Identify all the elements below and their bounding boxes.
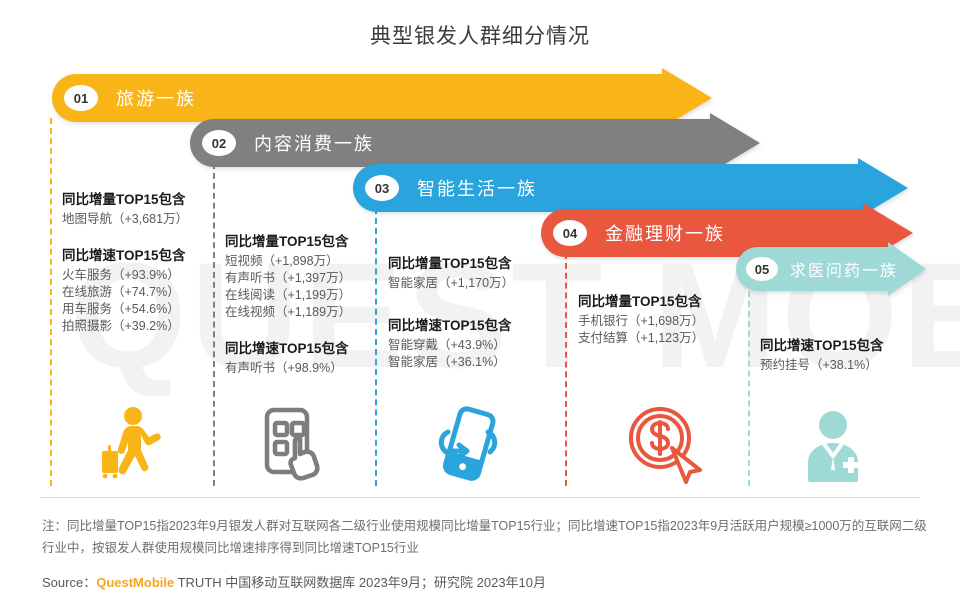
footer-divider [40, 497, 920, 498]
segment-label: 旅游一族 [116, 85, 196, 111]
text-block: 同比增量TOP15包含 智能家居（+1,170万） [388, 252, 514, 292]
infographic-root: QUEST MOBILE 典型银发人群细分情况 01 旅游一族 02 内容消费一… [0, 0, 960, 612]
divider-finance [565, 253, 567, 486]
segment-arrow-medical[interactable]: 05 求医问药一族 [736, 247, 926, 291]
block-item: 在线视频（+1,189万） [225, 304, 351, 321]
block-item: 有声听书（+98.9%） [225, 360, 351, 377]
block-item: 有声听书（+1,397万） [225, 270, 351, 287]
segment-number-badge: 01 [64, 85, 98, 111]
segment-label: 智能生活一族 [417, 175, 537, 201]
text-block: 同比增速TOP15包含 智能穿戴（+43.9%） 智能家居（+36.1%） [388, 314, 514, 371]
block-heading: 同比增速TOP15包含 [388, 314, 514, 334]
divider-smart [375, 208, 377, 486]
segment-arrow-travel[interactable]: 01 旅游一族 [52, 74, 712, 122]
block-item: 用车服务（+54.6%） [62, 301, 188, 318]
segment-label: 金融理财一族 [605, 220, 725, 246]
segment-number-badge: 05 [746, 257, 778, 281]
segment-number-badge: 02 [202, 130, 236, 156]
divider-medical [748, 291, 750, 486]
segment-number-badge: 04 [553, 220, 587, 246]
column-medical: 同比增速TOP15包含 预约挂号（+38.1%） [760, 334, 884, 374]
doctor-icon [800, 410, 866, 487]
segment-label: 内容消费一族 [254, 130, 374, 156]
block-item: 智能家居（+1,170万） [388, 275, 514, 292]
block-heading: 同比增量TOP15包含 [388, 252, 514, 272]
block-item: 短视频（+1,898万） [225, 253, 351, 270]
source-prefix: Source： [42, 575, 96, 590]
divider-content [213, 163, 215, 486]
block-item: 拍照摄影（+39.2%） [62, 318, 188, 335]
block-item: 支付结算（+1,123万） [578, 330, 704, 347]
segment-number-badge: 03 [365, 175, 399, 201]
smartphone-icon [430, 404, 504, 489]
text-block: 同比增量TOP15包含 地图导航（+3,681万） [62, 188, 188, 228]
source-rest: TRUTH 中国移动互联网数据库 2023年9月；研究院 2023年10月 [174, 575, 546, 590]
block-heading: 同比增速TOP15包含 [225, 337, 351, 357]
source-brand: QuestMobile [96, 575, 174, 590]
segment-arrow-smart[interactable]: 03 智能生活一族 [353, 164, 908, 212]
block-item: 智能穿戴（+43.9%） [388, 337, 514, 354]
column-travel: 同比增量TOP15包含 地图导航（+3,681万） 同比增速TOP15包含 火车… [62, 188, 188, 335]
block-item: 在线阅读（+1,199万） [225, 287, 351, 304]
source-line: Source：QuestMobile TRUTH 中国移动互联网数据库 2023… [42, 572, 932, 591]
phone-tap-icon [262, 406, 324, 489]
block-heading: 同比增速TOP15包含 [62, 244, 188, 264]
traveler-icon [96, 405, 168, 490]
block-item: 手机银行（+1,698万） [578, 313, 704, 330]
text-block: 同比增量TOP15包含 手机银行（+1,698万） 支付结算（+1,123万） [578, 290, 704, 347]
block-item: 在线旅游（+74.7%） [62, 284, 188, 301]
block-item: 地图导航（+3,681万） [62, 211, 188, 228]
column-smart: 同比增量TOP15包含 智能家居（+1,170万） 同比增速TOP15包含 智能… [388, 252, 514, 371]
block-heading: 同比增速TOP15包含 [760, 334, 884, 354]
text-block: 同比增速TOP15包含 预约挂号（+38.1%） [760, 334, 884, 374]
block-heading: 同比增量TOP15包含 [578, 290, 704, 310]
text-block: 同比增速TOP15包含 有声听书（+98.9%） [225, 337, 351, 377]
footnote: 注：同比增量TOP15指2023年9月银发人群对互联网各二级行业使用规模同比增量… [42, 515, 932, 559]
segment-arrow-content[interactable]: 02 内容消费一族 [190, 119, 760, 167]
column-finance: 同比增量TOP15包含 手机银行（+1,698万） 支付结算（+1,123万） [578, 290, 704, 347]
text-block: 同比增速TOP15包含 火车服务（+93.9%） 在线旅游（+74.7%） 用车… [62, 244, 188, 335]
dollar-search-icon [622, 404, 702, 489]
column-content: 同比增量TOP15包含 短视频（+1,898万） 有声听书（+1,397万） 在… [225, 230, 351, 377]
segment-label: 求医问药一族 [790, 257, 898, 281]
block-heading: 同比增量TOP15包含 [62, 188, 188, 208]
block-item: 火车服务（+93.9%） [62, 267, 188, 284]
block-item: 预约挂号（+38.1%） [760, 357, 884, 374]
block-item: 智能家居（+36.1%） [388, 354, 514, 371]
block-heading: 同比增量TOP15包含 [225, 230, 351, 250]
divider-travel [50, 118, 52, 486]
text-block: 同比增量TOP15包含 短视频（+1,898万） 有声听书（+1,397万） 在… [225, 230, 351, 321]
page-title: 典型银发人群细分情况 [0, 20, 960, 50]
